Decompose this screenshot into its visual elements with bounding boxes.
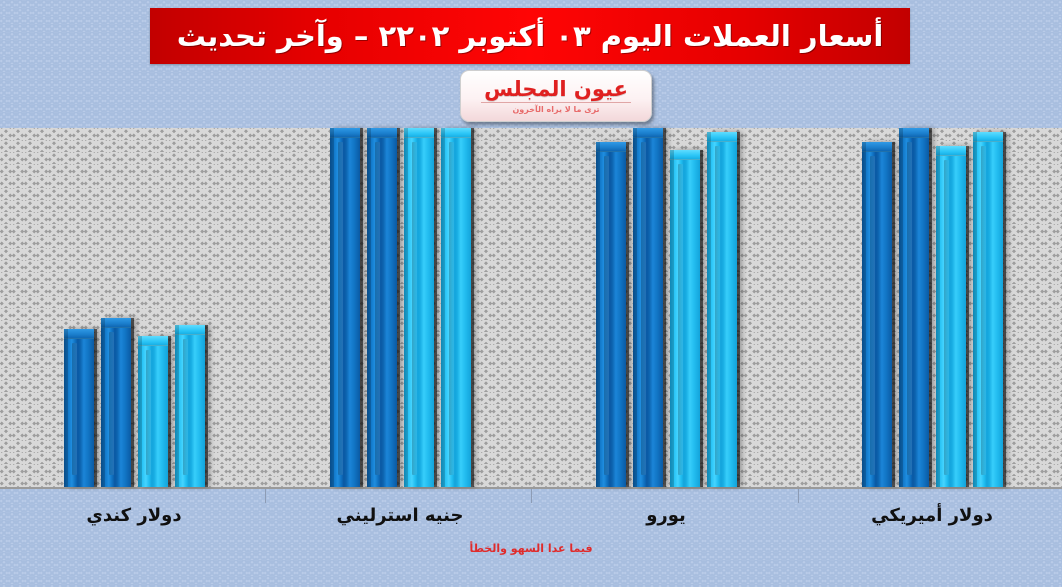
bar (138, 336, 168, 487)
bar-cap (596, 142, 626, 152)
bar (707, 132, 737, 487)
bar-highlight (146, 350, 151, 475)
bar-face (441, 128, 471, 487)
bar-face (64, 329, 94, 487)
bar-highlight (338, 142, 343, 475)
site-logo[interactable]: عيون المجلس ترى ما لا يراه الآخرون (460, 70, 652, 122)
bar-cap (936, 146, 966, 156)
category-label: يورو (526, 505, 806, 526)
bar (64, 329, 94, 487)
bar-cap (330, 128, 360, 138)
bar-cap (633, 128, 663, 138)
bar (404, 128, 434, 487)
bar-highlight (109, 332, 114, 475)
bar-cap (707, 132, 737, 142)
category-label: دولار كندي (0, 505, 274, 526)
axis-tick (798, 489, 799, 503)
bar-highlight (981, 146, 986, 475)
bar-cap (64, 329, 94, 339)
bar-cap (404, 128, 434, 138)
bar-face (936, 146, 966, 487)
bar-face (707, 132, 737, 487)
bar-face (670, 150, 700, 487)
bar-cap (899, 128, 929, 138)
bar-shadow (101, 318, 105, 487)
bar-highlight (375, 142, 380, 475)
bar (330, 128, 360, 487)
bar-shadow (330, 128, 334, 487)
bar (441, 128, 471, 487)
bar-highlight (604, 156, 609, 475)
bar-highlight (715, 146, 720, 475)
bar-highlight (641, 142, 646, 475)
bar-shadow (707, 132, 711, 487)
bar (367, 128, 397, 487)
bar (973, 132, 1003, 487)
bar-cap (138, 336, 168, 346)
bar-shadow (367, 128, 371, 487)
bar-shadow (596, 142, 600, 487)
bar-face (101, 318, 131, 487)
bar-shadow (973, 132, 977, 487)
bar-cap (973, 132, 1003, 142)
bar-cap (670, 150, 700, 160)
bar-face (330, 128, 360, 487)
bar-highlight (449, 142, 454, 475)
bar-face (367, 128, 397, 487)
bar-face (899, 128, 929, 487)
bar-shadow (404, 128, 408, 487)
bar-highlight (183, 339, 188, 475)
bar-cap (862, 142, 892, 152)
bar-highlight (412, 142, 417, 475)
bar-highlight (944, 160, 949, 475)
bar (596, 142, 626, 487)
bar-shadow (633, 128, 637, 487)
bar-highlight (72, 343, 77, 475)
bar (633, 128, 663, 487)
bar (175, 325, 205, 487)
bar (899, 128, 929, 487)
bar (670, 150, 700, 487)
title-banner: أسعار العملات اليوم ٣٠ أكتوبر ٢٠٢٢ – وآخ… (150, 8, 910, 64)
bar-cap (441, 128, 471, 138)
bar-highlight (678, 164, 683, 475)
bar-shadow (899, 128, 903, 487)
bar-cap (367, 128, 397, 138)
bar-shadow (862, 142, 866, 487)
bar-face (138, 336, 168, 487)
footer-disclaimer: فيما عدا السهو والخطأ (0, 542, 1062, 555)
bar (101, 318, 131, 487)
bar-face (596, 142, 626, 487)
page-title: أسعار العملات اليوم ٣٠ أكتوبر ٢٠٢٢ – وآخ… (177, 19, 884, 53)
bar-shadow (138, 336, 142, 487)
logo-divider (481, 102, 631, 103)
bar (936, 146, 966, 487)
bar-face (973, 132, 1003, 487)
bar-face (404, 128, 434, 487)
bar-face (862, 142, 892, 487)
axis-tick (531, 489, 532, 503)
category-label: دولار أميريكي (792, 505, 1062, 526)
bar-face (633, 128, 663, 487)
bar-shadow (936, 146, 940, 487)
bar-face (175, 325, 205, 487)
bar-highlight (870, 156, 875, 475)
logo-name: عيون المجلس (484, 79, 628, 100)
bar (862, 142, 892, 487)
logo-tagline: ترى ما لا يراه الآخرون (512, 106, 599, 114)
category-label: جنيه استرليني (260, 505, 540, 526)
axis-tick (265, 489, 266, 503)
bar-shadow (670, 150, 674, 487)
bar-shadow (64, 329, 68, 487)
bar-shadow (441, 128, 445, 487)
bar-shadow (175, 325, 179, 487)
bar-cap (175, 325, 205, 335)
bar-highlight (907, 142, 912, 475)
bar-cap (101, 318, 131, 328)
